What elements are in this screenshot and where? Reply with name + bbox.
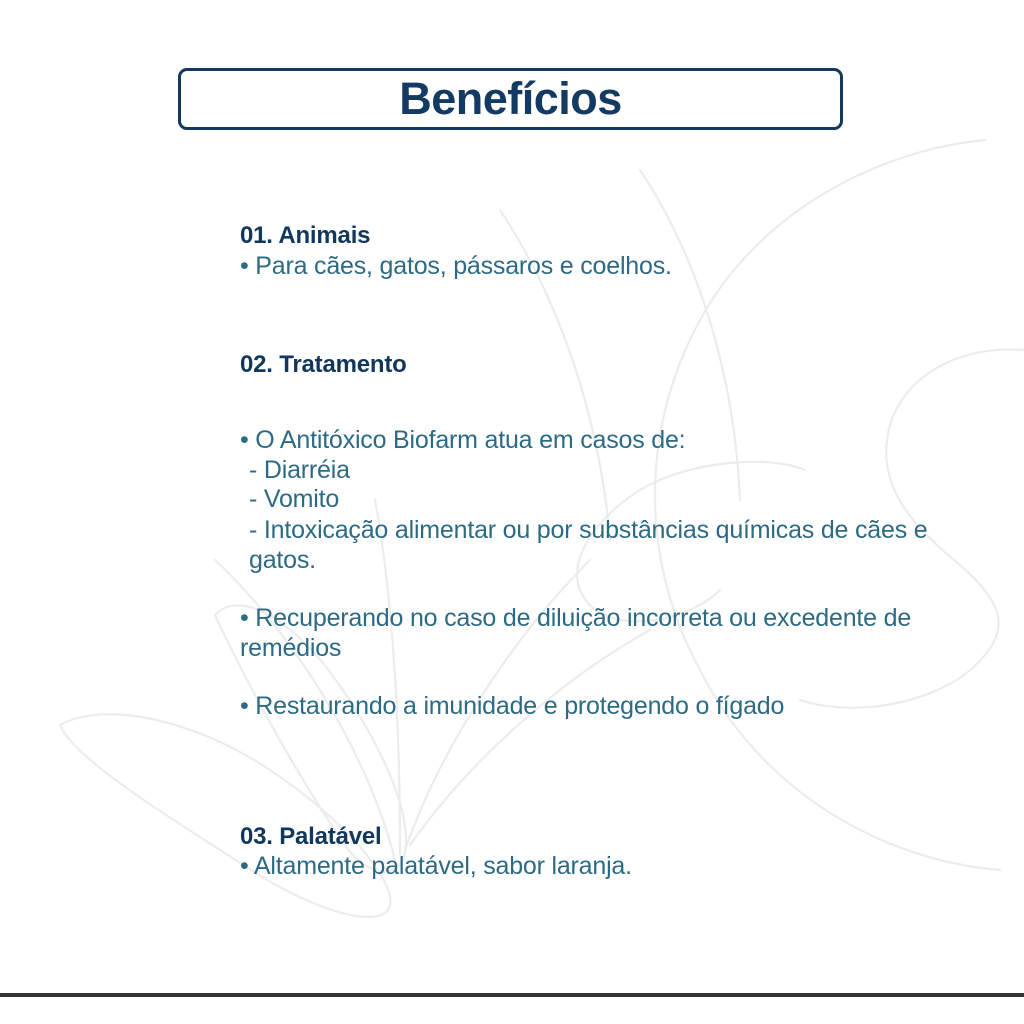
page-title: Benefícios — [178, 68, 843, 130]
section-02-subitem-3: - Intoxicação alimentar ou por substânci… — [240, 515, 930, 575]
spacer — [240, 575, 930, 603]
section-03-heading: 03. Palatável — [240, 823, 930, 851]
spacer — [240, 663, 930, 691]
section-02-subitem-1: - Diarréia — [240, 456, 930, 486]
spacer — [240, 379, 930, 426]
section-03-line-1: • Altamente palatável, sabor laranja. — [240, 852, 930, 882]
section-02-subitem-2: - Vomito — [240, 485, 930, 515]
section-02: 02. Tratamento • O Antitóxico Biofarm at… — [240, 351, 930, 720]
bottom-divider — [0, 993, 1024, 997]
section-01: 01. Animais • Para cães, gatos, pássaros… — [240, 222, 930, 281]
section-02-bullet-2: • Recuperando no caso de diluição incorr… — [240, 603, 930, 663]
benefits-content: 01. Animais • Para cães, gatos, pássaros… — [240, 222, 930, 882]
section-01-line-1: • Para cães, gatos, pássaros e coelhos. — [240, 252, 930, 282]
spacer — [240, 281, 930, 351]
section-02-heading: 02. Tratamento — [240, 351, 930, 379]
slide-canvas: Benefícios 01. Animais • Para cães, gato… — [0, 0, 1024, 1024]
section-02-bullet-3: • Restaurando a imunidade e protegendo o… — [240, 691, 930, 721]
spacer — [240, 721, 930, 823]
section-02-bullet-1: • O Antitóxico Biofarm atua em casos de: — [240, 426, 930, 456]
section-01-heading: 01. Animais — [240, 222, 930, 250]
section-03: 03. Palatável • Altamente palatável, sab… — [240, 823, 930, 882]
